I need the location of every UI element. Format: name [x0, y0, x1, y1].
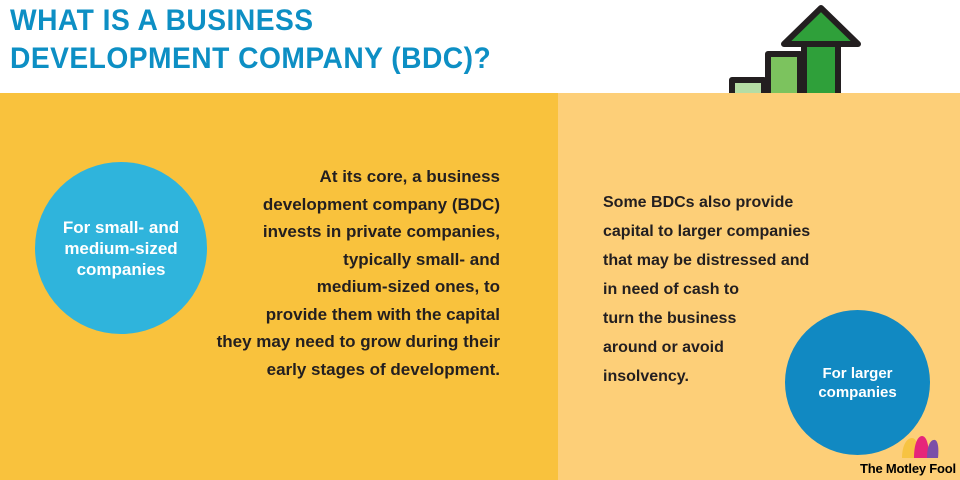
left-line: typically small- and	[60, 246, 500, 274]
left-line: invests in private companies,	[60, 218, 500, 246]
left-panel-paragraph: At its core, a business development comp…	[60, 163, 500, 383]
left-line: At its core, a business	[60, 163, 500, 191]
right-line: Some BDCs also provide	[603, 188, 903, 217]
left-line: medium-sized ones, to	[60, 273, 500, 301]
left-line: early stages of development.	[60, 356, 500, 384]
right-line: in need of cash to	[603, 275, 903, 304]
left-line: they may need to grow during their	[60, 328, 500, 356]
right-line: that may be distressed and	[603, 246, 903, 275]
right-line: capital to larger companies	[603, 217, 903, 246]
jester-hat-icon	[900, 436, 940, 458]
infographic-canvas: What is a business development company (…	[0, 0, 960, 480]
left-line: provide them with the capital	[60, 301, 500, 329]
badge-right-label: For larger companies	[793, 364, 922, 402]
page-title: What is a business development company (…	[10, 2, 668, 78]
badge-larger-companies: For larger companies	[785, 310, 930, 455]
logo-wordmark: The Motley Fool	[860, 461, 956, 476]
left-line: development company (BDC)	[60, 191, 500, 219]
motley-fool-logo: The Motley Fool	[860, 448, 956, 476]
